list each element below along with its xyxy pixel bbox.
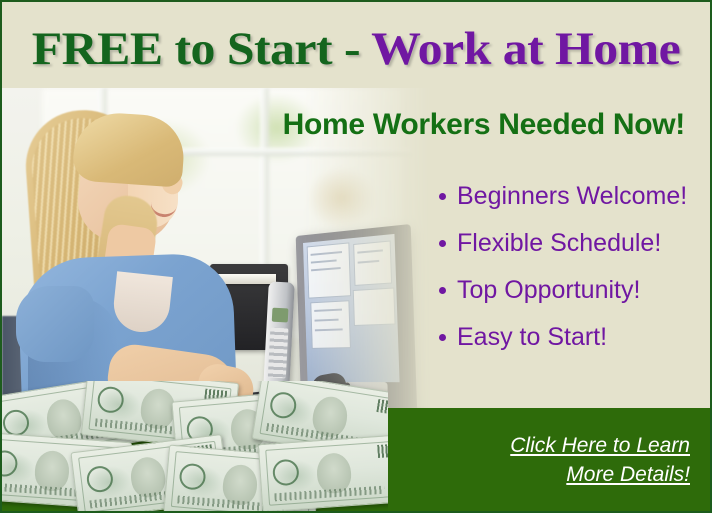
cta-line-1[interactable]: Click Here to Learn [510, 434, 690, 457]
phone-keypad [268, 328, 289, 379]
cordless-phone [263, 281, 295, 390]
woman-working [2, 98, 262, 428]
title-green-part: FREE to Start - [32, 23, 371, 75]
title-purple-part: Work at Home [371, 23, 680, 75]
cta-link[interactable]: Click Here to Learn More Details! [430, 431, 690, 489]
screen-window [353, 287, 396, 326]
list-item: Easy to Start! [438, 325, 687, 350]
monitor-screen [303, 234, 400, 382]
screen-window [310, 300, 351, 349]
dollar-bill [258, 434, 388, 511]
phone-screen [272, 308, 289, 323]
sleeve [16, 286, 94, 362]
dollar-bills-image [0, 381, 388, 511]
list-item: Flexible Schedule! [438, 231, 687, 256]
list-item: Beginners Welcome! [438, 184, 687, 209]
subheading: Home Workers Needed Now! [283, 110, 685, 140]
work-at-home-banner[interactable]: FREE to Start - Work at Home Home Worker… [0, 0, 712, 513]
list-item: Top Opportunity! [438, 278, 687, 303]
cta-line-2[interactable]: More Details! [566, 463, 690, 486]
benefits-list: Beginners Welcome! Flexible Schedule! To… [438, 184, 687, 372]
page-title: FREE to Start - Work at Home [0, 26, 712, 73]
